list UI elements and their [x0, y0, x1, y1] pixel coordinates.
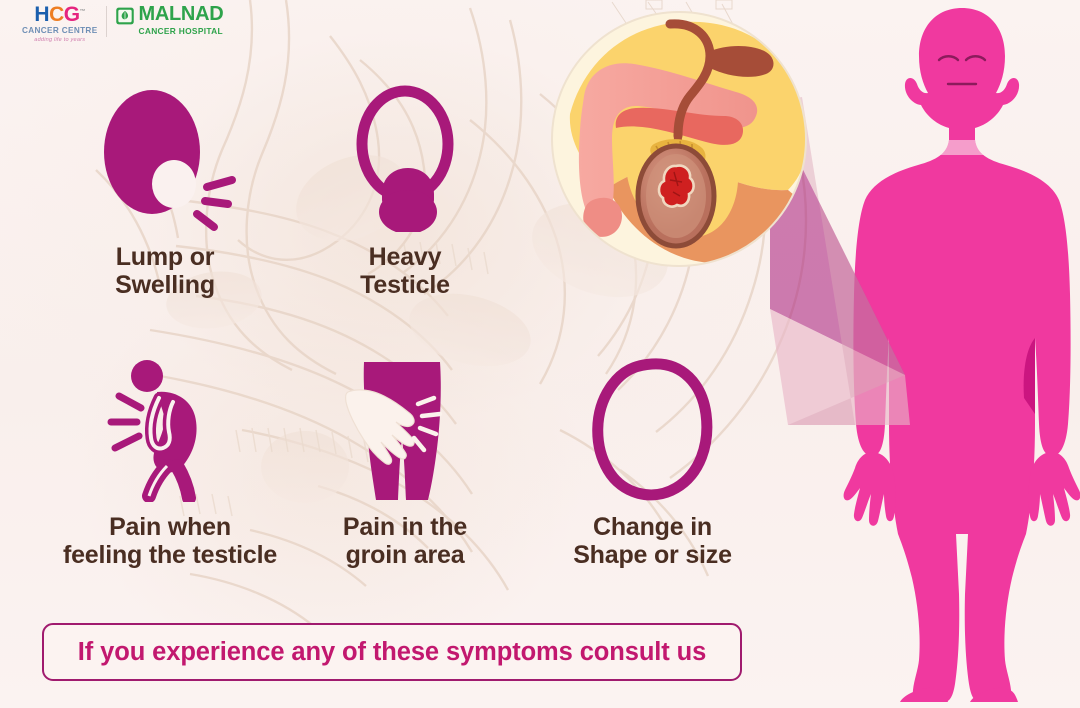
- hcg-wordmark: HCG™: [34, 4, 85, 25]
- testicle-lump-icon: [90, 82, 240, 237]
- malnad-wordmark: MALNAD: [139, 4, 224, 24]
- symptom-pain-in-the-groin-area: Pain in the groin area: [300, 352, 510, 569]
- symptom-label: Heavy Testicle: [360, 243, 450, 299]
- logo-divider: [106, 6, 107, 37]
- irregular-oval-outline-icon: [578, 352, 728, 507]
- trademark-symbol: ™: [80, 9, 86, 15]
- hcg-letter-h: H: [34, 3, 49, 26]
- symptom-label: Lump or Swelling: [115, 243, 215, 299]
- consult-banner-text: If you experience any of these symptoms …: [78, 638, 706, 667]
- symptom-heavy-testicle: Heavy Testicle: [300, 82, 510, 299]
- malnad-text: MALNAD CANCER HOSPITAL: [139, 4, 224, 36]
- hcg-letter-c: C: [49, 3, 64, 26]
- hand-on-groin-pain-icon: [330, 352, 480, 507]
- malnad-subtitle: CANCER HOSPITAL: [139, 26, 224, 36]
- consult-banner[interactable]: If you experience any of these symptoms …: [42, 623, 742, 681]
- brand-logo: HCG™ CANCER CENTRE adding life to years …: [22, 4, 223, 43]
- green-leaf-book-icon: [115, 6, 135, 26]
- hcg-logo: HCG™ CANCER CENTRE adding life to years: [22, 4, 98, 43]
- hunched-person-pain-icon: [95, 352, 245, 507]
- symptom-change-in-shape-or-size: Change in Shape or size: [545, 352, 760, 569]
- hcg-tagline: adding life to years: [34, 37, 85, 43]
- testicle-kettlebell-icon: [330, 82, 480, 237]
- magnified-testicular-anatomy-circle: [550, 10, 808, 268]
- symptom-label: Pain when feeling the testicle: [63, 513, 277, 569]
- symptom-pain-when-feeling-the-testicle: Pain when feeling the testicle: [50, 352, 290, 569]
- infographic-poster: HCG™ CANCER CENTRE adding life to years …: [0, 0, 1080, 708]
- symptom-label: Pain in the groin area: [343, 513, 467, 569]
- malnad-logo: MALNAD CANCER HOSPITAL: [115, 4, 224, 36]
- symptom-lump-or-swelling: Lump or Swelling: [40, 82, 290, 299]
- hcg-subtitle: CANCER CENTRE: [22, 26, 98, 36]
- hcg-letter-g: G: [64, 3, 80, 26]
- symptom-label: Change in Shape or size: [573, 513, 732, 569]
